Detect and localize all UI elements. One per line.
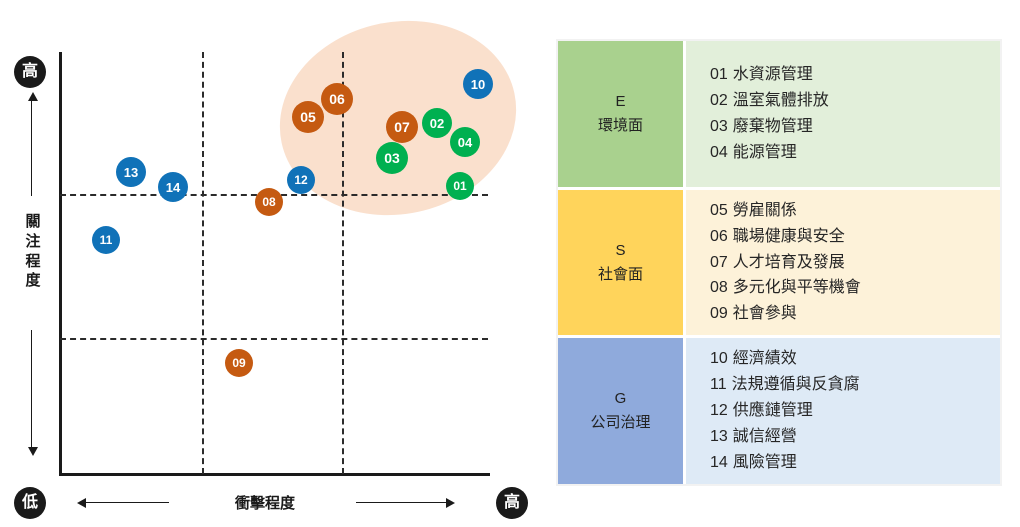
legend-row-g: G公司治理10經濟績效11法規遵循與反貪腐12供應鏈管理13誠信經營14風險管理: [558, 338, 1000, 484]
x-axis-left-arrow: [86, 502, 169, 503]
data-point-09[interactable]: 09: [225, 349, 253, 377]
quadrant-divider-vertical-2: [342, 52, 344, 474]
legend-item-13[interactable]: 13誠信經營: [710, 424, 1000, 450]
data-point-12[interactable]: 12: [287, 166, 315, 194]
legend-item-number: 08: [710, 279, 728, 296]
legend-item-text: 供應鏈管理: [733, 402, 813, 419]
y-axis-title: 關注程度: [20, 212, 46, 291]
legend-item-list-s: 05勞雇關係06職場健康與安全07人才培育及發展08多元化與平等機會09社會參與: [686, 190, 1000, 336]
legend-item-number: 13: [710, 428, 728, 445]
legend-item-text: 人才培育及發展: [733, 254, 845, 271]
legend-item-14[interactable]: 14風險管理: [710, 450, 1000, 476]
esg-legend-table: E環境面01水資源管理02溫室氣體排放03廢棄物管理04能源管理S社會面05勞雇…: [556, 39, 1002, 486]
materiality-matrix-chart: 高 低 高 關注程度 衝擊程度 010203040506070809101112…: [0, 0, 548, 527]
legend-row-e: E環境面01水資源管理02溫室氣體排放03廢棄物管理04能源管理: [558, 41, 1000, 190]
legend-item-10[interactable]: 10經濟績效: [710, 346, 1000, 372]
data-point-02[interactable]: 02: [422, 108, 452, 138]
legend-item-number: 10: [710, 350, 728, 367]
quadrant-divider-vertical-1: [202, 52, 204, 474]
legend-category-name: 環境面: [598, 114, 643, 138]
legend-item-text: 溫室氣體排放: [733, 92, 829, 109]
legend-item-number: 04: [710, 144, 728, 161]
x-axis-high-badge: 高: [496, 487, 528, 519]
legend-item-02[interactable]: 02溫室氣體排放: [710, 88, 1000, 114]
legend-category-e: E環境面: [558, 41, 686, 187]
data-point-07[interactable]: 07: [386, 111, 418, 143]
legend-item-01[interactable]: 01水資源管理: [710, 62, 1000, 88]
data-point-01[interactable]: 01: [446, 172, 474, 200]
legend-item-number: 12: [710, 402, 728, 419]
legend-item-text: 水資源管理: [733, 66, 813, 83]
legend-item-03[interactable]: 03廢棄物管理: [710, 114, 1000, 140]
legend-item-text: 法規遵循與反貪腐: [732, 376, 860, 393]
legend-item-09[interactable]: 09社會參與: [710, 301, 1000, 327]
legend-category-s: S社會面: [558, 190, 686, 336]
data-point-04[interactable]: 04: [450, 127, 480, 157]
legend-item-07[interactable]: 07人才培育及發展: [710, 250, 1000, 276]
y-axis-line: [59, 52, 62, 476]
x-axis-line: [59, 473, 490, 476]
quadrant-divider-horizontal-2: [60, 338, 488, 340]
x-axis-low-badge: 低: [14, 487, 46, 519]
legend-row-s: S社會面05勞雇關係06職場健康與安全07人才培育及發展08多元化與平等機會09…: [558, 190, 1000, 339]
legend-item-text: 誠信經營: [733, 428, 797, 445]
legend-item-05[interactable]: 05勞雇關係: [710, 198, 1000, 224]
legend-item-text: 能源管理: [733, 144, 797, 161]
legend-item-text: 風險管理: [733, 454, 797, 471]
legend-category-g: G公司治理: [558, 338, 686, 484]
legend-item-number: 03: [710, 118, 728, 135]
legend-item-text: 多元化與平等機會: [733, 279, 861, 296]
data-point-06[interactable]: 06: [321, 83, 353, 115]
data-point-13[interactable]: 13: [116, 157, 146, 187]
legend-item-04[interactable]: 04能源管理: [710, 140, 1000, 166]
legend-category-letter: E: [615, 90, 625, 114]
legend-item-list-g: 10經濟績效11法規遵循與反貪腐12供應鏈管理13誠信經營14風險管理: [686, 338, 1000, 484]
legend-category-name: 公司治理: [590, 411, 650, 435]
data-point-05[interactable]: 05: [292, 101, 324, 133]
y-axis-up-arrow: [31, 100, 32, 196]
legend-item-text: 職場健康與安全: [733, 228, 845, 245]
legend-item-12[interactable]: 12供應鏈管理: [710, 398, 1000, 424]
x-axis-title: 衝擊程度: [180, 492, 350, 513]
legend-item-06[interactable]: 06職場健康與安全: [710, 224, 1000, 250]
legend-item-number: 09: [710, 305, 728, 322]
data-point-03[interactable]: 03: [376, 142, 408, 174]
data-point-14[interactable]: 14: [158, 172, 188, 202]
legend-item-number: 14: [710, 454, 728, 471]
legend-item-text: 勞雇關係: [733, 202, 797, 219]
data-point-08[interactable]: 08: [255, 188, 283, 216]
legend-category-letter: S: [615, 239, 625, 263]
legend-item-list-e: 01水資源管理02溫室氣體排放03廢棄物管理04能源管理: [686, 41, 1000, 187]
legend-item-number: 02: [710, 92, 728, 109]
data-point-10[interactable]: 10: [463, 69, 493, 99]
legend-item-text: 經濟績效: [733, 350, 797, 367]
y-axis-down-arrow: [31, 330, 32, 448]
legend-item-number: 05: [710, 202, 728, 219]
legend-item-text: 廢棄物管理: [733, 118, 813, 135]
legend-item-number: 11: [710, 376, 727, 393]
data-point-11[interactable]: 11: [92, 226, 120, 254]
legend-item-number: 06: [710, 228, 728, 245]
x-axis-right-arrow: [356, 502, 446, 503]
legend-item-08[interactable]: 08多元化與平等機會: [710, 275, 1000, 301]
legend-item-text: 社會參與: [733, 305, 797, 322]
legend-item-11[interactable]: 11法規遵循與反貪腐: [710, 372, 1000, 398]
legend-category-letter: G: [615, 387, 627, 411]
legend-item-number: 07: [710, 254, 728, 271]
y-axis-high-badge: 高: [14, 56, 46, 88]
legend-category-name: 社會面: [598, 263, 643, 287]
legend-item-number: 01: [710, 66, 728, 83]
